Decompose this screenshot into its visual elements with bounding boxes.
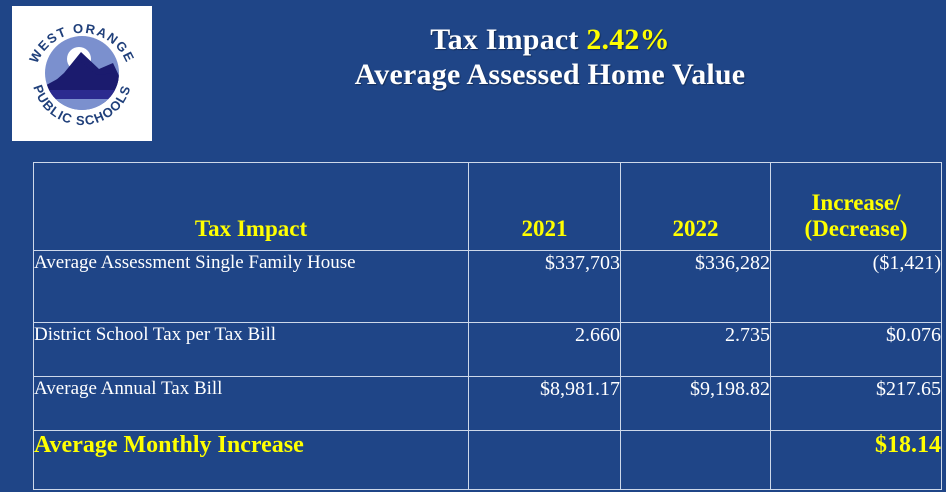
cell-average-annual-tax-bill-2022: $9,198.82: [621, 377, 771, 431]
row-label-average-monthly-increase: Average Monthly Increase: [34, 431, 469, 490]
row-label-average-annual-tax-bill: Average Annual Tax Bill: [34, 377, 469, 431]
column-header-increase-decrease: Increase/ (Decrease): [771, 163, 942, 251]
cell-average-annual-tax-bill-delta: $217.65: [771, 377, 942, 431]
page-title-line-2: Average Assessed Home Value: [170, 57, 930, 92]
slide-header: WEST ORANGE PUBLIC SCHOOLS Tax Impact 2.…: [0, 0, 946, 152]
cell-average-assessment-delta: ($1,421): [771, 251, 942, 323]
cell-district-school-tax-2022: 2.735: [621, 323, 771, 377]
west-orange-public-schools-seal-icon: WEST ORANGE PUBLIC SCHOOLS: [17, 11, 147, 136]
row-label-district-school-tax: District School Tax per Tax Bill: [34, 323, 469, 377]
table-header-row: Tax Impact 2021 2022 Increase/ (Decrease…: [34, 163, 942, 251]
column-header-2022: 2022: [621, 163, 771, 251]
column-header-2021: 2021: [469, 163, 621, 251]
table-row: Average Assessment Single Family House $…: [34, 251, 942, 323]
column-header-tax-impact: Tax Impact: [34, 163, 469, 251]
table-row: Average Annual Tax Bill $8,981.17 $9,198…: [34, 377, 942, 431]
page-title-accent-percent: 2.42%: [586, 23, 670, 56]
tax-impact-table: Tax Impact 2021 2022 Increase/ (Decrease…: [33, 162, 942, 490]
cell-average-monthly-increase-2021: [469, 431, 621, 490]
slide-title-block: Tax Impact 2.42% Average Assessed Home V…: [170, 22, 930, 92]
page-title-line-1: Tax Impact 2.42%: [170, 22, 930, 57]
table-row: District School Tax per Tax Bill 2.660 2…: [34, 323, 942, 377]
cell-average-monthly-increase-2022: [621, 431, 771, 490]
cell-district-school-tax-delta: $0.076: [771, 323, 942, 377]
table-row-total: Average Monthly Increase $18.14: [34, 431, 942, 490]
page-title-prefix: Tax Impact: [430, 23, 586, 56]
row-label-average-assessment: Average Assessment Single Family House: [34, 251, 469, 323]
cell-district-school-tax-2021: 2.660: [469, 323, 621, 377]
cell-average-assessment-2022: $336,282: [621, 251, 771, 323]
district-logo: WEST ORANGE PUBLIC SCHOOLS: [12, 6, 152, 141]
column-header-increase-line1: Increase/: [811, 190, 900, 215]
cell-average-assessment-2021: $337,703: [469, 251, 621, 323]
cell-average-annual-tax-bill-2021: $8,981.17: [469, 377, 621, 431]
cell-average-monthly-increase-delta: $18.14: [771, 431, 942, 490]
column-header-decrease-line2: (Decrease): [804, 216, 907, 241]
